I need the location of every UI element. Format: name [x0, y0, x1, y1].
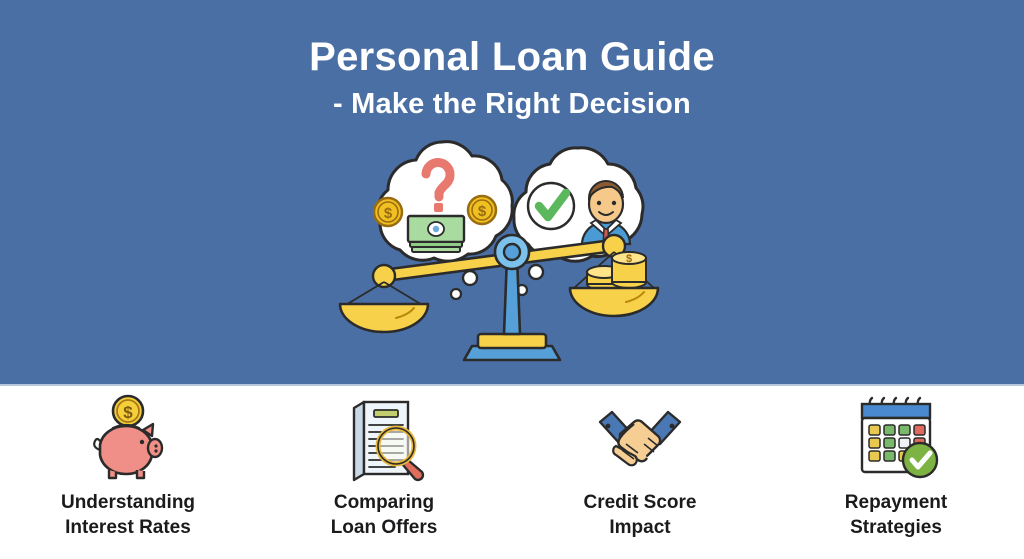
- feature-card-label: Credit Score Impact: [535, 490, 745, 540]
- coin-icon: $: [113, 396, 143, 426]
- coin-icon: $: [468, 196, 496, 224]
- feature-card-label-line2: Interest Rates: [23, 515, 233, 540]
- check-circle-icon: [528, 183, 574, 229]
- infographic-root: Personal Loan Guide - Make the Right Dec…: [0, 0, 1024, 559]
- svg-text:$: $: [478, 203, 487, 220]
- svg-text:$: $: [123, 403, 133, 422]
- feature-card-label-line1: Credit Score: [535, 490, 745, 515]
- page-title: Personal Loan Guide: [0, 32, 1024, 82]
- page-subtitle: - Make the Right Decision: [0, 86, 1024, 122]
- feature-card-label-line1: Comparing: [279, 490, 489, 515]
- hero-section: Personal Loan Guide - Make the Right Dec…: [0, 0, 1024, 384]
- banknote-icon: [408, 216, 464, 252]
- piggy-bank-icon: $: [80, 394, 176, 482]
- feature-card-interest-rates[interactable]: $ Understanding Inter: [23, 394, 233, 540]
- check-badge-icon: [903, 443, 937, 477]
- feature-card-label-line1: Repayment: [791, 490, 1001, 515]
- feature-card-loan-offers[interactable]: Comparing Loan Offers: [279, 394, 489, 540]
- feature-card-label: Understanding Interest Rates: [23, 490, 233, 540]
- footer-section: $ Understanding Inter: [0, 386, 1024, 559]
- feature-card-label-line2: Impact: [535, 515, 745, 540]
- feature-card-list: $ Understanding Inter: [0, 386, 1024, 559]
- svg-text:$: $: [384, 205, 393, 222]
- feature-card-label-line2: Loan Offers: [279, 515, 489, 540]
- document-magnifier-icon: [336, 394, 432, 482]
- handshake-icon: [592, 394, 688, 482]
- balance-scale-icon: $: [340, 235, 658, 360]
- feature-card-label: Comparing Loan Offers: [279, 490, 489, 540]
- hero-illustration: $ $: [330, 132, 694, 372]
- feature-card-label-line2: Strategies: [791, 515, 1001, 540]
- calendar-check-icon: [848, 394, 944, 482]
- feature-card-label-line1: Understanding: [23, 490, 233, 515]
- feature-card-repayment[interactable]: Repayment Strategies: [791, 394, 1001, 540]
- coin-icon: $: [374, 198, 402, 226]
- feature-card-label: Repayment Strategies: [791, 490, 1001, 540]
- feature-card-credit-score[interactable]: Credit Score Impact: [535, 394, 745, 540]
- svg-text:$: $: [626, 253, 632, 265]
